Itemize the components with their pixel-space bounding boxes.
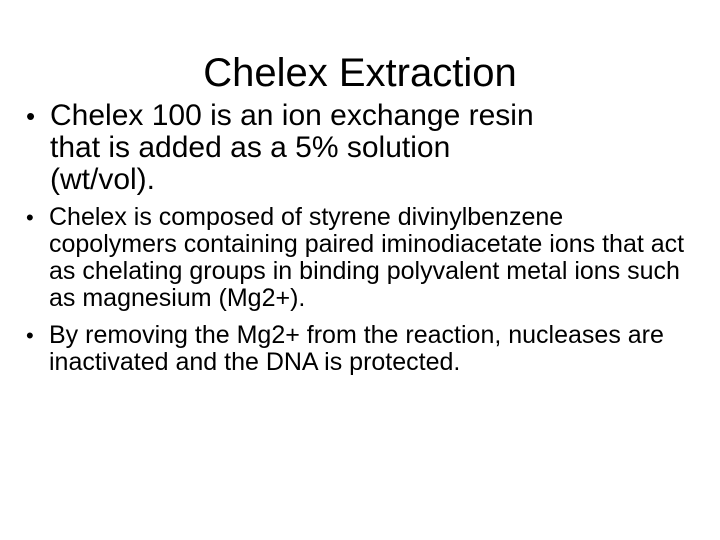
bullet-point-icon: • bbox=[26, 100, 50, 132]
slide-body-content: • Chelex 100 is an ion exchange resin th… bbox=[26, 100, 698, 386]
page-title: Chelex Extraction bbox=[0, 49, 720, 97]
list-item: • Chelex 100 is an ion exchange resin th… bbox=[26, 100, 698, 196]
list-item-text: By removing the Mg2+ from the reaction, … bbox=[49, 322, 689, 376]
presentation-slide: Chelex Extraction • Chelex 100 is an ion… bbox=[0, 0, 720, 540]
list-item-text: Chelex is composed of styrene divinylben… bbox=[49, 204, 689, 312]
list-item: • Chelex is composed of styrene divinylb… bbox=[26, 204, 698, 312]
bullet-point-icon: • bbox=[26, 322, 49, 349]
list-item: • By removing the Mg2+ from the reaction… bbox=[26, 322, 698, 376]
bullet-point-icon: • bbox=[26, 204, 49, 231]
list-item-text: Chelex 100 is an ion exchange resin that… bbox=[50, 100, 540, 196]
